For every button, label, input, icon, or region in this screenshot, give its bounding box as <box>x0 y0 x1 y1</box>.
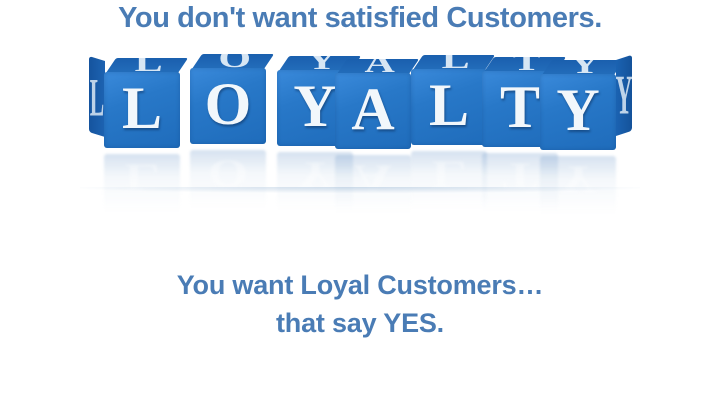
cube-1-left-letter: L <box>89 67 105 129</box>
cube-5-letter: L <box>411 69 487 145</box>
floor-sheen <box>80 187 640 193</box>
caption-text: You want Loyal Customers… that say YES. <box>0 266 720 342</box>
cube-7-top-letter: Y <box>549 60 621 74</box>
cube-5-reflection: L <box>411 151 487 209</box>
letter-cube-4: A A A <box>335 59 411 135</box>
cube-4-reflection-letter: A <box>335 156 411 200</box>
cube-7-reflection-letter: Y <box>540 157 616 201</box>
caption-line-2: that say YES. <box>0 304 720 342</box>
cube-5-top-letter: L <box>420 55 492 69</box>
cube-2-top-letter: O <box>199 54 271 68</box>
cube-7-reflection: Y <box>540 156 616 214</box>
cube-2-letter: O <box>190 68 266 144</box>
cube-7-front-face: Y <box>540 74 616 150</box>
cube-1-letter: L <box>104 72 180 148</box>
caption-line-1: You want Loyal Customers… <box>0 266 720 304</box>
letter-cube-2: O O O <box>190 54 266 130</box>
loyalty-blocks-image: L L L L O O O <box>0 44 720 204</box>
letter-cube-7: Y Y Y Y <box>540 60 616 136</box>
cube-5-front-face: L <box>411 69 487 145</box>
cube-7-right-face: Y <box>616 55 632 136</box>
cube-7-right-letter: Y <box>616 63 632 127</box>
cube-4-letter: A <box>335 73 411 149</box>
cube-2-front-face: O <box>190 68 266 144</box>
cube-1-reflection: L <box>104 154 180 212</box>
cube-4-front-face: A <box>335 73 411 149</box>
cube-1-left-face: L <box>89 56 105 137</box>
letter-cube-5: L L L <box>411 55 487 131</box>
letter-cube-1: L L L L <box>104 58 180 134</box>
cube-7-letter: Y <box>540 74 616 150</box>
cube-2-reflection: O <box>190 150 266 208</box>
cube-1-top-letter: L <box>113 58 185 72</box>
headline-text: You don't want satisfied Customers. <box>0 2 720 35</box>
slide-canvas: You don't want satisfied Customers. L L … <box>0 0 720 405</box>
cube-4-reflection: A <box>335 155 411 213</box>
cube-1-front-face: L <box>104 72 180 148</box>
cube-4-top-letter: A <box>344 59 416 73</box>
